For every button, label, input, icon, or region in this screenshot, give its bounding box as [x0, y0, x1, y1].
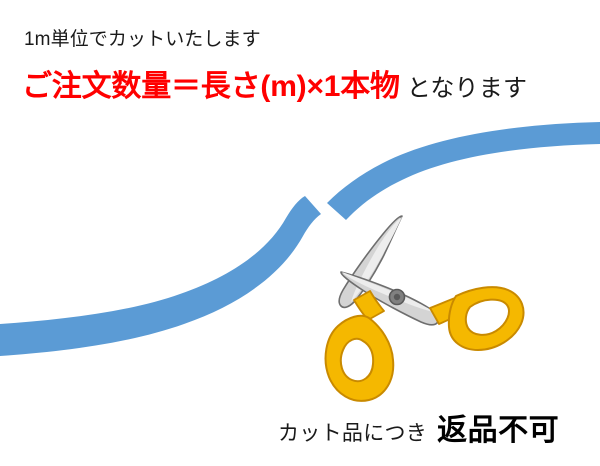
cut-unit-note: 1m単位でカットいたします	[24, 28, 261, 52]
cable-left-segment	[0, 196, 321, 356]
no-return-prefix: カット品につき	[278, 422, 427, 445]
no-return-note: カット品につき返品不可	[278, 412, 559, 450]
order-quantity-note: ご注文数量＝長さ(m)×1本物となります	[22, 68, 527, 106]
scissors-illustration	[326, 216, 524, 401]
scissors-pivot-screw-center	[394, 294, 400, 300]
cut-service-notice-image: 1m単位でカットいたします ご注文数量＝長さ(m)×1本物となります カット品に…	[0, 0, 600, 466]
order-quantity-formula: ご注文数量＝長さ(m)×1本物	[22, 70, 400, 103]
scissors-lower-handle-loop	[326, 316, 394, 401]
order-quantity-suffix: となります	[407, 75, 527, 102]
cable-right-segment	[327, 122, 600, 220]
no-return-emphasis: 返品不可	[437, 414, 559, 447]
scissors-right-handle-loop	[449, 287, 524, 350]
